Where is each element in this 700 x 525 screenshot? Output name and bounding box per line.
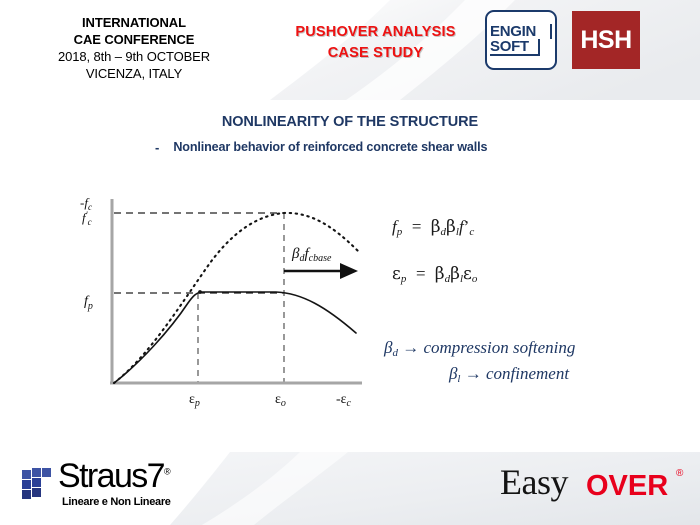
- x-label-eps-p: εp: [189, 392, 200, 409]
- equation-eps-p: εp = βdβlεo: [392, 265, 642, 285]
- easyover-over-text: OVER: [586, 472, 668, 501]
- easyover-easy-text: Easy: [500, 464, 568, 500]
- enginsoft-logo-text: ENGIN SOFT: [490, 18, 552, 62]
- straus7-name: Straus7: [58, 457, 164, 495]
- straus7-wordmark: Straus7®: [58, 459, 171, 493]
- x-label-eps-o: εo: [275, 392, 286, 409]
- enginsoft-logo-line-2: SOFT: [490, 39, 540, 56]
- section-title: NONLINEARITY OF THE STRUCTURE: [0, 114, 700, 130]
- curve-unconfined-dotted: [114, 213, 358, 383]
- conference-line-2: CAE CONFERENCE: [4, 31, 264, 48]
- beta-fcbase-arrow: [284, 263, 358, 279]
- definition-beta-d-sub: d: [392, 347, 398, 359]
- y-label-fc-prime: f'c: [82, 210, 92, 227]
- definition-beta-d-text: → compression softening: [402, 338, 575, 357]
- definition-beta-l-text: → confinement: [465, 364, 569, 383]
- bullet-item: - Nonlinear behavior of reinforced concr…: [155, 140, 575, 156]
- straus7-registered-icon: ®: [164, 467, 171, 477]
- hsh-logo-text: HSH: [580, 26, 631, 55]
- hsh-logo: HSH: [572, 11, 640, 69]
- enginsoft-logo: ENGIN SOFT: [485, 10, 557, 70]
- easyover-logo: Easy OVER ®: [500, 468, 685, 510]
- beta-fcbase-label: βdfcbase: [291, 246, 332, 264]
- deck-title-line-1: PUSHOVER ANALYSIS: [268, 22, 483, 43]
- curve-softened-solid: [114, 292, 356, 383]
- equation-block: fp = βdβlf’c εp = βdβlεo: [392, 218, 642, 312]
- deck-title-line-2: CASE STUDY: [268, 43, 483, 64]
- definition-beta-l-sub: l: [457, 373, 460, 385]
- conference-line-4: VICENZA, ITALY: [4, 65, 264, 82]
- easyover-registered-icon: ®: [676, 468, 683, 479]
- x-label-eps-c: -εc: [336, 392, 352, 409]
- conference-line-1: INTERNATIONAL: [4, 14, 264, 31]
- straus7-logo: Straus7® Lineare e Non Lineare: [22, 464, 222, 512]
- definition-beta-d: βd → compression softening: [378, 336, 658, 362]
- marker-eps-p-point: [198, 290, 202, 294]
- straus7-grid-icon: [22, 468, 56, 502]
- definition-block: βd → compression softening βl → confinem…: [378, 336, 658, 387]
- bullet-label: Nonlinear behavior of reinforced concret…: [173, 140, 487, 155]
- conference-line-3: 2018, 8th – 9th OCTOBER: [4, 48, 264, 65]
- definition-beta-l: βl → confinement: [378, 362, 658, 388]
- conference-info: INTERNATIONAL CAE CONFERENCE 2018, 8th –…: [4, 14, 264, 83]
- bullet-marker: -: [155, 140, 159, 156]
- straus7-tagline: Lineare e Non Lineare: [62, 496, 171, 508]
- equation-fp: fp = βdβlf’c: [392, 218, 642, 238]
- deck-title: PUSHOVER ANALYSIS CASE STUDY: [268, 22, 483, 63]
- reference-lines: [114, 213, 284, 293]
- slide-canvas: INTERNATIONAL CAE CONFERENCE 2018, 8th –…: [0, 0, 700, 525]
- stress-strain-chart: βdfcbase -fc f'c fp εp εo -εc: [70, 185, 370, 415]
- y-label-fp: fp: [84, 294, 93, 312]
- enginsoft-logo-line-1: ENGIN: [490, 24, 552, 39]
